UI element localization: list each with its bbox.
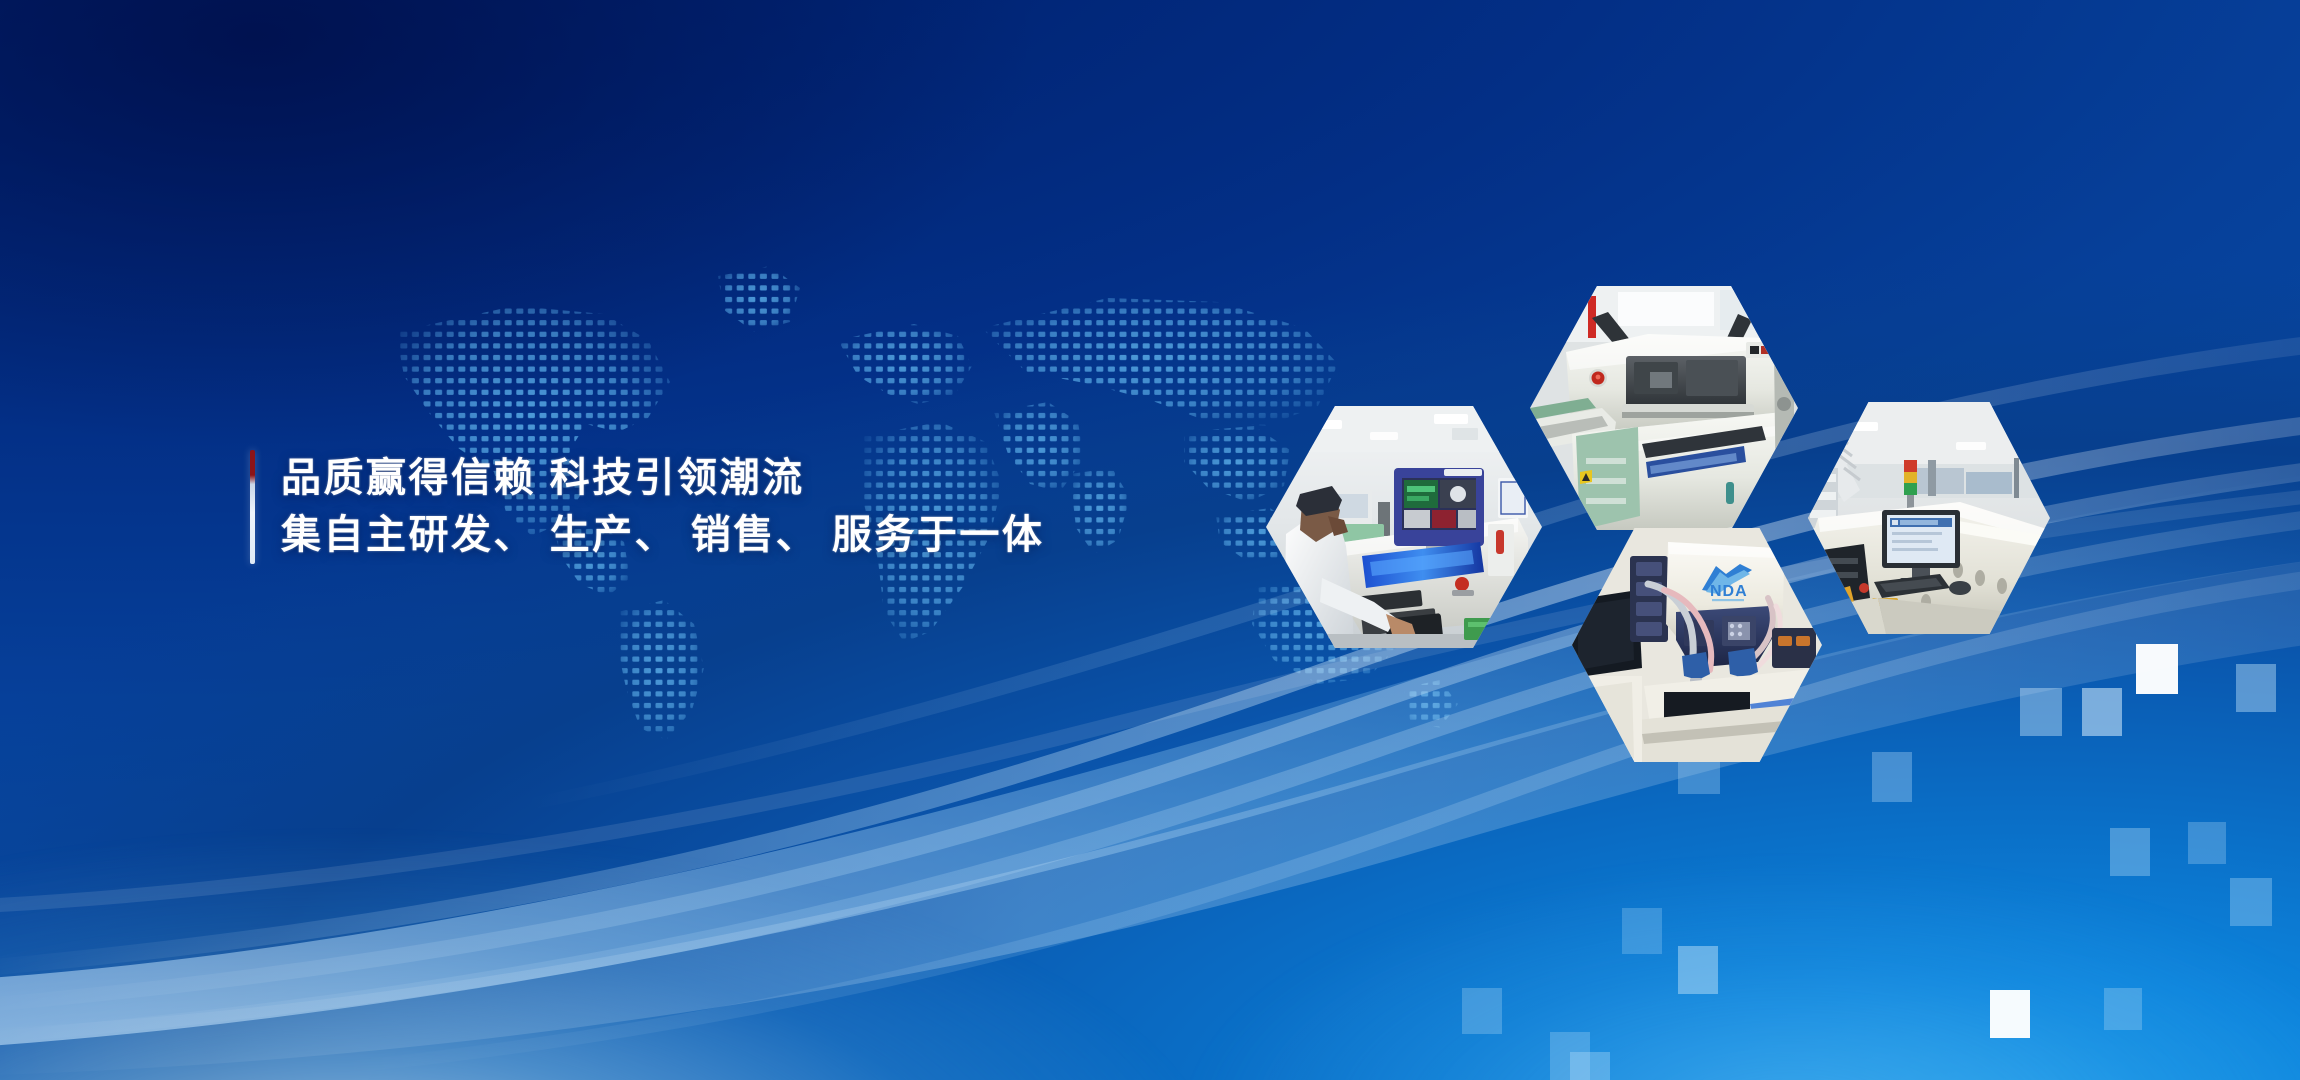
svg-text:NDA: NDA [1710, 583, 1748, 600]
headline-line-2: 集自主研发、 生产、 销售、 服务于一体 [281, 507, 1044, 564]
square-decor [1622, 908, 1662, 954]
square-decor [2136, 644, 2178, 694]
square-decor [1570, 1052, 1610, 1080]
headline-block: 品质赢得信赖 科技引领潮流 集自主研发、 生产、 销售、 服务于一体 [250, 450, 1044, 564]
square-decor [2188, 822, 2226, 864]
square-decor [2236, 664, 2276, 712]
square-decor [2230, 878, 2272, 926]
headline-line-1: 品质赢得信赖 科技引领潮流 [281, 450, 1044, 507]
square-decor [2104, 988, 2142, 1030]
square-decor [2082, 688, 2122, 736]
square-decor [1678, 946, 1718, 994]
square-decor [2020, 688, 2062, 736]
square-decor [1990, 990, 2030, 1038]
square-decor [1872, 752, 1912, 802]
hero-banner: NDA [0, 0, 2300, 1080]
accent-bar [250, 450, 255, 564]
headline-lines: 品质赢得信赖 科技引领潮流 集自主研发、 生产、 销售、 服务于一体 [281, 450, 1044, 564]
square-decor [2110, 828, 2150, 876]
square-decor [1462, 988, 1502, 1034]
